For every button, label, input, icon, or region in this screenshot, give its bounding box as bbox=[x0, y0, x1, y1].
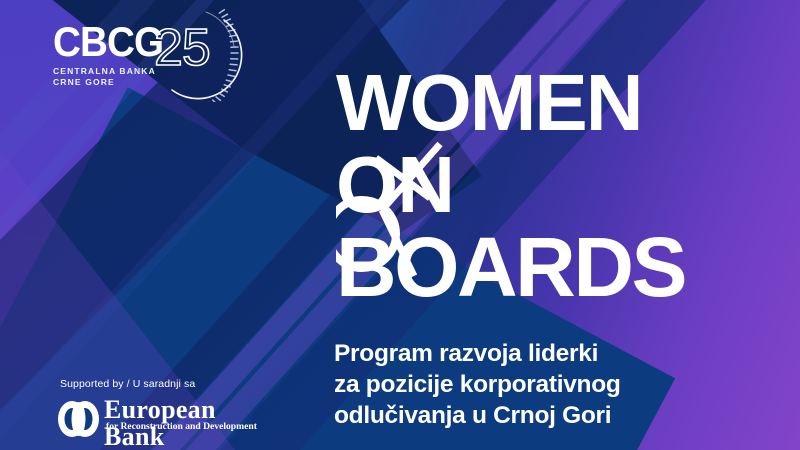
title-line-boards: BOARDS bbox=[336, 226, 756, 308]
title-line-women: WOMEN bbox=[336, 62, 756, 144]
title-line-on: ON bbox=[336, 144, 756, 226]
supported-by-label: Supported by / U saradnji sa bbox=[60, 378, 195, 390]
page-title: WOMEN ON BOARDS bbox=[336, 62, 756, 308]
subtitle-line-1: Program razvoja liderki bbox=[334, 338, 734, 369]
ebrd-logo: European Bank for Reconstruction and Dev… bbox=[56, 394, 271, 442]
subtitle-line-2: za pozicije korporativnog bbox=[334, 369, 734, 400]
subtitle-line-3: odlučivanja u Crnoj Gori bbox=[334, 400, 734, 431]
anniversary-mark: 25 bbox=[146, 6, 244, 102]
ebrd-interlocking-circles-icon bbox=[56, 396, 100, 442]
poster-canvas: CBCG CENTRALNA BANKA CRNE GORE bbox=[0, 0, 800, 450]
ebrd-tagline: for Reconstruction and Development bbox=[106, 422, 257, 432]
anniversary-number: 25 bbox=[154, 22, 210, 74]
subtitle: Program razvoja liderki za pozicije korp… bbox=[334, 338, 734, 431]
